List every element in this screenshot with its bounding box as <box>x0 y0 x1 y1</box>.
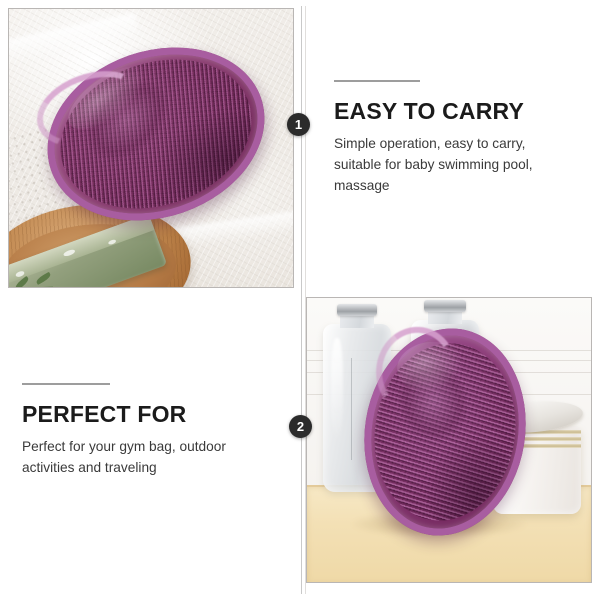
sprig-leaf <box>14 276 30 287</box>
feature-body-2: Perfect for your gym bag, outdoor activi… <box>22 436 272 478</box>
step-badge-2: 2 <box>289 415 312 438</box>
heading-rule <box>22 383 110 385</box>
bottle-seam <box>351 358 352 460</box>
feature-text-block-1: EASY TO CARRY Simple operation, easy to … <box>334 80 574 196</box>
feature-body-1: Simple operation, easy to carry, suitabl… <box>334 133 574 196</box>
product-photo-brush-on-towel <box>8 8 294 288</box>
sprig-leaf <box>35 272 52 285</box>
feature-headline-1: EASY TO CARRY <box>334 99 574 124</box>
bottle-cap-right <box>424 300 466 312</box>
feature-headline-2: PERFECT FOR <box>22 402 272 427</box>
feature-text-block-2: PERFECT FOR Perfect for your gym bag, ou… <box>22 383 272 478</box>
bottle-cap-left <box>337 304 377 316</box>
product-photo-brush-with-bottles <box>306 297 592 583</box>
infographic-page: 1 EASY TO CARRY Simple operation, easy t… <box>0 0 600 600</box>
step-badge-1: 1 <box>287 113 310 136</box>
heading-rule <box>334 80 420 82</box>
bottle-highlight <box>331 338 343 438</box>
silicone-brush-upright <box>350 317 541 547</box>
vertical-divider <box>301 6 302 594</box>
